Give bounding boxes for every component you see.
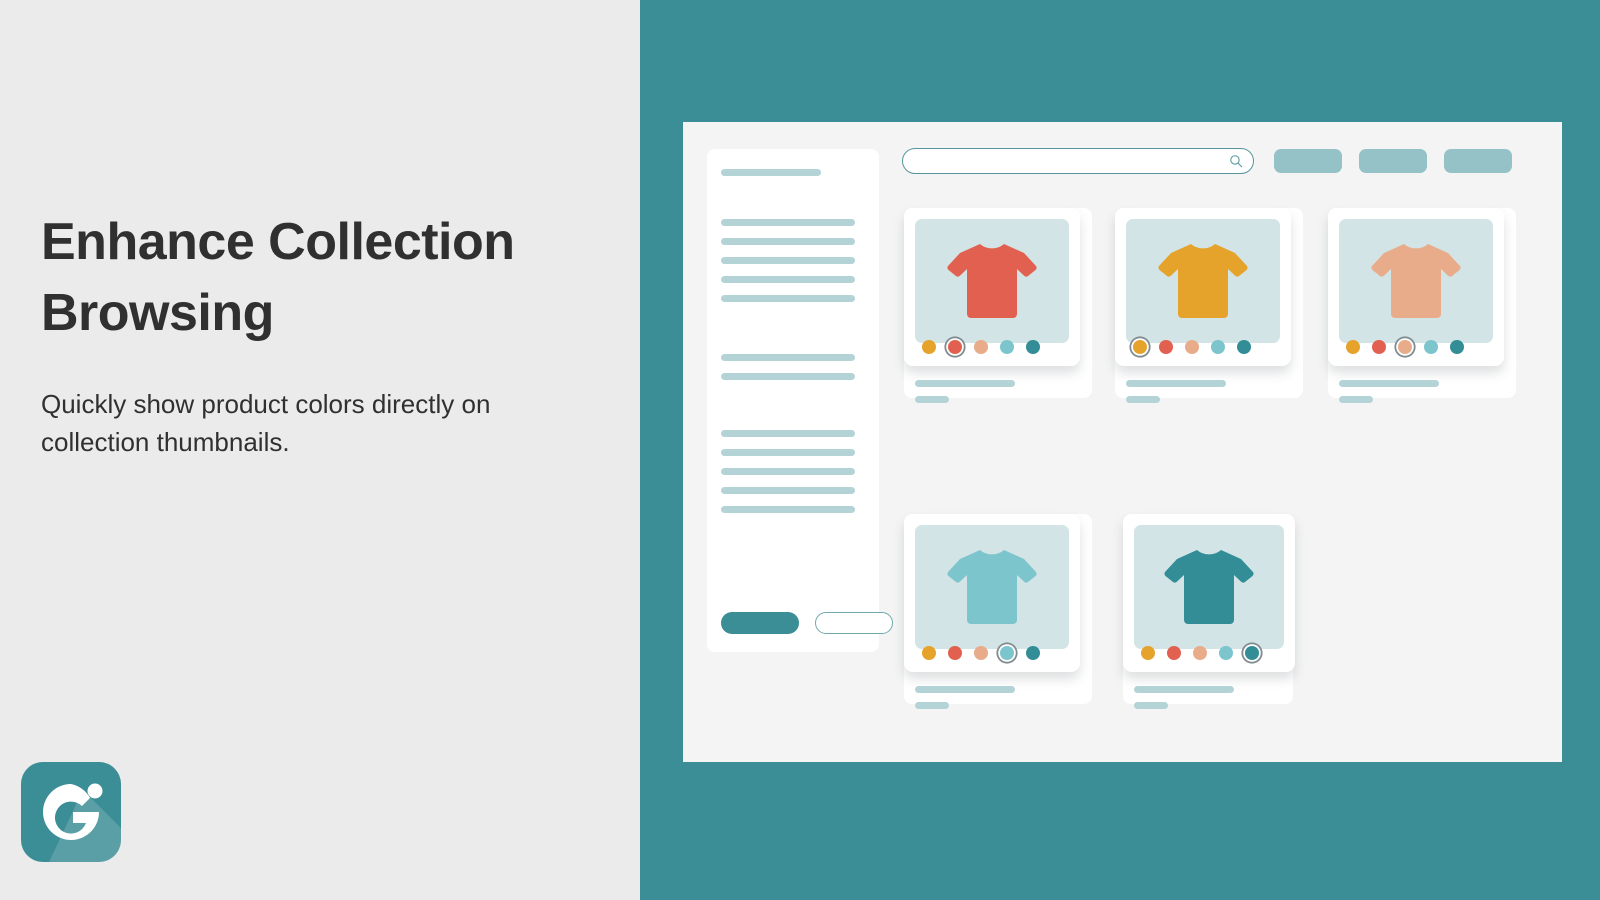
tshirt-icon [1370, 242, 1462, 320]
sidebar-apply-button[interactable] [721, 612, 799, 634]
product-preview-panel [904, 514, 1080, 672]
color-swatch-coral[interactable] [1372, 340, 1386, 354]
filter-option-line[interactable] [721, 487, 855, 494]
product-price-placeholder [1126, 396, 1160, 403]
product-card-4[interactable] [904, 514, 1092, 704]
product-thumbnail[interactable] [915, 525, 1069, 649]
color-swatch-amber[interactable] [922, 340, 936, 354]
product-preview-panel [904, 208, 1080, 366]
filter-option-line[interactable] [721, 373, 855, 380]
color-swatch-row [1346, 340, 1464, 354]
product-card-1[interactable] [904, 208, 1092, 398]
toolbar-pill-sort[interactable] [1274, 149, 1342, 173]
color-swatch-coral[interactable] [1167, 646, 1181, 660]
tshirt-icon [1163, 548, 1255, 626]
product-preview-panel [1123, 514, 1295, 672]
color-swatch-dark-teal[interactable] [1026, 340, 1040, 354]
search-input[interactable] [902, 148, 1254, 174]
search-icon [1229, 154, 1243, 168]
color-swatch-light-teal[interactable] [1211, 340, 1225, 354]
color-swatch-dark-teal[interactable] [1237, 340, 1251, 354]
color-swatch-light-teal[interactable] [1424, 340, 1438, 354]
color-swatch-coral[interactable] [948, 646, 962, 660]
product-thumbnail[interactable] [1126, 219, 1280, 343]
color-swatch-coral[interactable] [1159, 340, 1173, 354]
filter-option-line[interactable] [721, 354, 855, 361]
filter-option-line[interactable] [721, 430, 855, 437]
color-swatch-amber[interactable] [1346, 340, 1360, 354]
product-thumbnail[interactable] [915, 219, 1069, 343]
product-title-placeholder [915, 380, 1015, 387]
color-swatch-peach[interactable] [1193, 646, 1207, 660]
product-title-placeholder [1126, 380, 1226, 387]
logo-g-icon [21, 762, 121, 862]
app-logo [21, 762, 121, 862]
toolbar-pill-filter[interactable] [1359, 149, 1427, 173]
filter-option-line[interactable] [721, 276, 855, 283]
product-price-placeholder [1339, 396, 1373, 403]
filter-sidebar [707, 149, 879, 652]
product-thumbnail[interactable] [1134, 525, 1284, 649]
slide-canvas: Enhance Collection Browsing Quickly show… [0, 0, 1600, 900]
tshirt-icon [946, 242, 1038, 320]
color-swatch-dark-teal[interactable] [1245, 646, 1259, 660]
color-swatch-dark-teal[interactable] [1450, 340, 1464, 354]
filter-option-line[interactable] [721, 219, 855, 226]
color-swatch-peach[interactable] [1398, 340, 1412, 354]
product-price-placeholder [1134, 702, 1168, 709]
filter-option-line[interactable] [721, 238, 855, 245]
color-swatch-dark-teal[interactable] [1026, 646, 1040, 660]
tshirt-icon [946, 548, 1038, 626]
product-preview-panel [1328, 208, 1504, 366]
filter-option-line[interactable] [721, 468, 855, 475]
color-swatch-peach[interactable] [1185, 340, 1199, 354]
sidebar-header-line [721, 169, 821, 176]
color-swatch-row [922, 646, 1040, 660]
color-swatch-amber[interactable] [1141, 646, 1155, 660]
toolbar-pill-view[interactable] [1444, 149, 1512, 173]
filter-option-line[interactable] [721, 506, 855, 513]
page-title: Enhance Collection Browsing [41, 207, 621, 348]
product-price-placeholder [915, 396, 949, 403]
tshirt-icon [1157, 242, 1249, 320]
product-card-2[interactable] [1115, 208, 1303, 398]
color-swatch-light-teal[interactable] [1000, 646, 1014, 660]
product-title-placeholder [915, 686, 1015, 693]
color-swatch-amber[interactable] [922, 646, 936, 660]
filter-option-line[interactable] [721, 449, 855, 456]
filter-option-line[interactable] [721, 257, 855, 264]
product-card-5[interactable] [1123, 514, 1293, 704]
color-swatch-peach[interactable] [974, 646, 988, 660]
color-swatch-coral[interactable] [948, 340, 962, 354]
color-swatch-amber[interactable] [1133, 340, 1147, 354]
sidebar-reset-button[interactable] [815, 612, 893, 634]
left-text-pane: Enhance Collection Browsing Quickly show… [0, 0, 640, 900]
color-swatch-peach[interactable] [974, 340, 988, 354]
color-swatch-row [1133, 340, 1251, 354]
product-preview-panel [1115, 208, 1291, 366]
product-title-placeholder [1339, 380, 1439, 387]
filter-option-line[interactable] [721, 295, 855, 302]
color-swatch-light-teal[interactable] [1219, 646, 1233, 660]
product-price-placeholder [915, 702, 949, 709]
app-mockup-window [683, 122, 1562, 762]
color-swatch-row [922, 340, 1040, 354]
color-swatch-light-teal[interactable] [1000, 340, 1014, 354]
color-swatch-row [1141, 646, 1259, 660]
product-thumbnail[interactable] [1339, 219, 1493, 343]
product-title-placeholder [1134, 686, 1234, 693]
product-card-3[interactable] [1328, 208, 1516, 398]
page-subtitle: Quickly show product colors directly on … [41, 385, 561, 462]
